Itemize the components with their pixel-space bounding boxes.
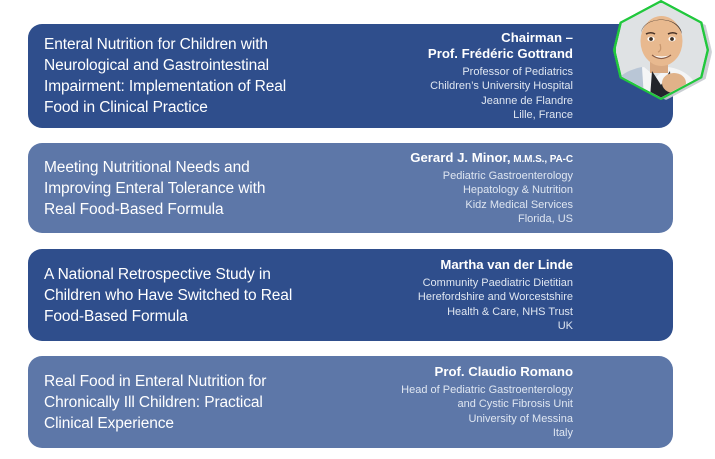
speaker-block: Chairman – Prof. Frédéric Gottrand Profe… xyxy=(389,30,577,122)
speaker-name: Chairman – Prof. Frédéric Gottrand xyxy=(389,30,573,64)
talk-title: Real Food in Enteral Nutrition for Chron… xyxy=(44,371,389,434)
talk-title: A National Retrospective Study in Childr… xyxy=(44,264,389,327)
speaker-name: Martha van der Linde xyxy=(389,257,573,275)
speaker-credentials: M.M.S., PA-C xyxy=(511,154,573,165)
session-card[interactable]: Enteral Nutrition for Children with Neur… xyxy=(28,24,673,128)
session-card[interactable]: A National Retrospective Study in Childr… xyxy=(28,249,673,341)
talk-title: Meeting Nutritional Needs and Improving … xyxy=(44,157,389,220)
speaker-affiliation: Community Paediatric Dietitian Herefords… xyxy=(389,276,573,333)
speaker-block: Martha van der Linde Community Paediatri… xyxy=(389,257,577,333)
speaker-affiliation: Professor of Pediatrics Children’s Unive… xyxy=(389,65,573,122)
session-card[interactable]: Meeting Nutritional Needs and Improving … xyxy=(28,143,673,233)
speaker-avatar-claudio-romano xyxy=(613,0,709,100)
talk-title: Enteral Nutrition for Children with Neur… xyxy=(44,34,389,118)
speaker-block: Prof. Claudio Romano Head of Pediatric G… xyxy=(389,364,577,440)
session-programme-list: Enteral Nutrition for Children with Neur… xyxy=(0,0,715,459)
speaker-name: Gerard J. Minor, M.M.S., PA-C xyxy=(389,150,573,168)
session-card[interactable]: Real Food in Enteral Nutrition for Chron… xyxy=(28,356,673,448)
speaker-block: Gerard J. Minor, M.M.S., PA-C Pediatric … xyxy=(389,150,577,226)
speaker-affiliation: Head of Pediatric Gastroenterology and C… xyxy=(389,383,573,440)
speaker-name: Prof. Claudio Romano xyxy=(389,364,573,382)
speaker-affiliation: Pediatric Gastroenterology Hepatology & … xyxy=(389,169,573,226)
